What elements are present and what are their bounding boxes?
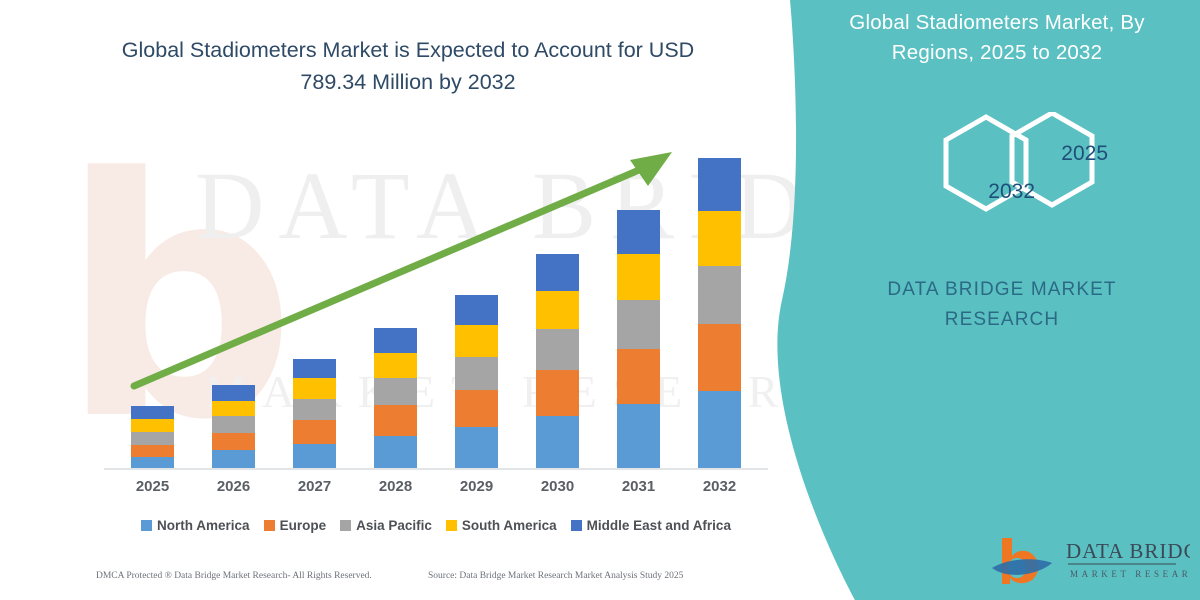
bar-segment [374,405,417,435]
hexagon-2025-label: 2025 [1061,142,1108,166]
bar-segment [698,158,741,211]
logo-b-mark [992,538,1052,584]
legend-label: Europe [280,518,327,533]
bar-segment [212,433,255,451]
bar-segment [212,385,255,401]
legend-item[interactable]: Asia Pacific [340,518,432,533]
logo-title: DATA BRIDGE [1066,539,1190,563]
page-title: Global Stadiometers Market is Expected t… [88,34,728,98]
bar-segment [293,444,336,470]
panel-brand-line1: DATA BRIDGE MARKET [852,275,1152,305]
bar-segment [455,325,498,356]
footer-source-text: Source: Data Bridge Market Research Mark… [428,571,683,581]
x-axis-label-2025: 2025 [123,478,183,495]
bar-segment [455,427,498,470]
data-bridge-logo: DATA BRIDGE MARKET RESEARCH [990,530,1190,592]
bar-segment [455,295,498,325]
bar-segment [536,291,579,329]
bar-segment [617,349,660,405]
bar-segment [698,391,741,470]
logo-subtitle: MARKET RESEARCH [1070,569,1190,579]
bar-2031[interactable] [617,210,660,470]
bar-segment [374,328,417,352]
bar-2030[interactable] [536,254,579,470]
hexagon-2032-label: 2032 [988,180,1035,204]
bar-segment [212,416,255,433]
bar-segment [131,406,174,419]
bar-segment [698,211,741,266]
bar-segment [131,445,174,458]
x-axis-labels: 20252026202720282029203020312032 [104,478,768,502]
legend-item[interactable]: South America [446,518,557,533]
bar-2028[interactable] [374,328,417,470]
bar-segment [131,432,174,445]
bar-segment [374,378,417,405]
legend-item[interactable]: North America [141,518,250,533]
chart-legend: North AmericaEuropeAsia PacificSouth Ame… [104,513,768,537]
stacked-bar-plot [112,140,760,470]
bar-segment [536,329,579,370]
bar-segment [617,254,660,300]
bar-segment [617,210,660,254]
panel-brand-line2: RESEARCH [852,305,1152,335]
hexagon-badges [900,112,1110,232]
bar-2027[interactable] [293,359,336,470]
legend-label: Asia Pacific [356,518,432,533]
x-axis-label-2026: 2026 [204,478,264,495]
chart-area: Global Stadiometers Market is Expected t… [0,0,800,600]
x-axis-label-2032: 2032 [690,478,750,495]
legend-swatch-icon [446,520,457,531]
legend-swatch-icon [264,520,275,531]
bar-segment [455,390,498,427]
legend-label: North America [157,518,250,533]
bar-segment [698,266,741,325]
x-axis-label-2028: 2028 [366,478,426,495]
panel-brand-text: DATA BRIDGE MARKET RESEARCH [852,275,1152,335]
bar-segment [536,254,579,291]
bar-2025[interactable] [131,406,174,470]
legend-label: Middle East and Africa [587,518,731,533]
bar-2029[interactable] [455,295,498,470]
bar-segment [536,416,579,470]
x-axis-label-2027: 2027 [285,478,345,495]
x-axis-line [104,468,768,470]
bar-segment [536,370,579,416]
x-axis-label-2031: 2031 [609,478,669,495]
bar-segment [455,357,498,390]
bar-segment [617,300,660,349]
bar-segment [698,324,741,391]
panel-title: Global Stadiometers Market, By Regions, … [812,8,1182,68]
bar-segment [293,399,336,421]
bar-segment [374,353,417,378]
bar-segment [131,419,174,432]
legend-swatch-icon [571,520,582,531]
legend-label: South America [462,518,557,533]
bar-segment [617,404,660,470]
x-axis-label-2029: 2029 [447,478,507,495]
legend-item[interactable]: Europe [264,518,327,533]
bar-segment [374,436,417,470]
legend-swatch-icon [141,520,152,531]
bar-segment [212,401,255,417]
legend-swatch-icon [340,520,351,531]
bar-2032[interactable] [698,158,741,470]
bar-segment [293,359,336,379]
bar-segment [293,420,336,443]
footer: DMCA Protected ® Data Bridge Market Rese… [0,568,800,592]
bar-segment [293,378,336,399]
footer-dmca-text: DMCA Protected ® Data Bridge Market Rese… [96,571,372,581]
x-axis-label-2030: 2030 [528,478,588,495]
bar-2026[interactable] [212,385,255,470]
legend-item[interactable]: Middle East and Africa [571,518,731,533]
infographic-root: b DATA BRIDGE MARKET RESEARCH Global Sta… [0,0,1200,600]
